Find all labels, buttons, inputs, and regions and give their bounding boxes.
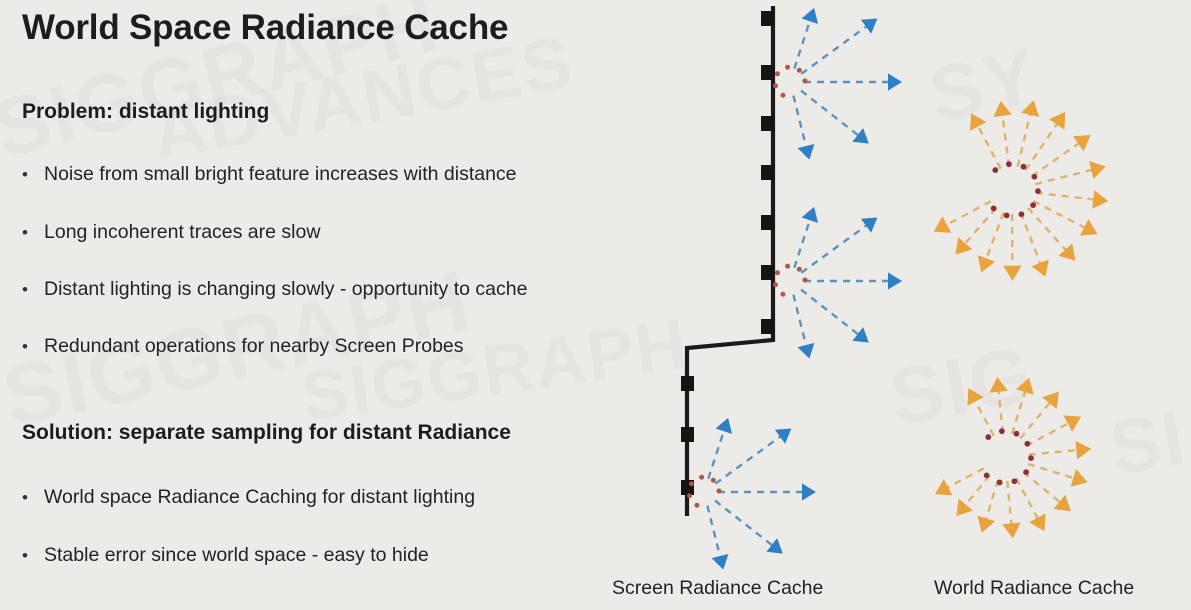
ray-arrowhead	[967, 388, 983, 406]
ray-shaft	[965, 476, 990, 506]
bullet-dot-icon: •	[22, 224, 44, 241]
world-radiance-rays-group	[934, 100, 1109, 538]
ray-shaft	[801, 26, 867, 74]
problem-bullet: • Long incoherent traces are slow	[22, 221, 320, 244]
ray-shaft	[1024, 472, 1061, 502]
radiance-sample-dot	[716, 488, 721, 493]
ray-shaft	[975, 400, 994, 435]
ray-shaft	[946, 201, 991, 225]
ray-shaft	[1036, 193, 1095, 200]
radiance-sample-dot	[785, 65, 790, 70]
ray-arrowhead	[956, 499, 973, 516]
screen-probe-marker	[761, 11, 774, 26]
ray-shaft	[1020, 402, 1050, 438]
screen-probe-marker	[761, 65, 774, 80]
watermark-text: SIG	[883, 328, 1041, 444]
radiance-sample-dot	[1012, 478, 1018, 484]
ray-arrowhead	[852, 327, 868, 342]
ray-shaft	[801, 91, 859, 136]
radiance-sample-dot	[775, 71, 780, 76]
ray-arrowhead	[970, 113, 986, 131]
radiance-sample-dot	[1006, 161, 1012, 167]
screen-probe-marker	[761, 116, 774, 131]
bullet-dot-icon: •	[22, 489, 44, 506]
ray-arrowhead	[802, 483, 816, 500]
ray-shaft	[1018, 114, 1031, 167]
caption-screen-radiance-cache: Screen Radiance Cache	[612, 577, 823, 600]
ray-arrowhead	[1002, 523, 1021, 539]
ray-arrowhead	[978, 255, 995, 272]
watermark-text: SI	[1103, 394, 1191, 493]
ray-shaft	[1002, 115, 1009, 167]
ray-shaft	[1026, 123, 1058, 170]
radiance-sample-dot	[775, 270, 780, 275]
ray-arrowhead	[1058, 243, 1075, 260]
page-title: World Space Radiance Cache	[22, 8, 508, 48]
ray-arrowhead	[798, 343, 815, 359]
bullet-dot-icon: •	[22, 547, 44, 564]
ray-shaft	[1035, 170, 1092, 184]
ray-shaft	[794, 219, 810, 268]
ray-arrowhead	[798, 144, 815, 160]
solution-bullet: • Stable error since world space - easy …	[22, 544, 429, 567]
ray-arrowhead	[888, 73, 902, 90]
solution-bullet-label: Stable error since world space - easy to…	[44, 544, 429, 567]
radiance-sample-dot	[1021, 164, 1027, 170]
radiance-sample-dot	[780, 93, 785, 98]
ray-arrowhead	[935, 479, 953, 495]
screen-probe-marker	[761, 265, 774, 280]
ray-arrowhead	[1071, 469, 1088, 487]
ray-arrowhead	[1073, 135, 1091, 151]
ray-shaft	[1021, 212, 1041, 264]
ray-shaft	[964, 208, 996, 244]
problem-heading: Problem: distant lighting	[22, 100, 269, 124]
ray-shaft	[1033, 201, 1085, 228]
ray-shaft	[1032, 143, 1080, 176]
ray-arrowhead	[977, 516, 995, 533]
ray-arrowhead	[1075, 441, 1091, 460]
ray-arrowhead	[1029, 513, 1045, 531]
ray-arrowhead	[888, 272, 902, 289]
radiance-sample-dot	[1031, 174, 1037, 180]
solution-bullet-label: World space Radiance Caching for distant…	[44, 486, 475, 509]
ray-arrowhead	[716, 418, 733, 434]
radiance-sample-dot	[802, 78, 807, 83]
radiance-sample-dot	[1004, 213, 1010, 219]
ray-shaft	[801, 225, 867, 273]
ray-arrowhead	[1021, 100, 1039, 117]
radiance-sample-dot	[711, 478, 716, 483]
ray-shaft	[1007, 481, 1011, 525]
ray-shaft	[986, 212, 1004, 259]
ray-arrowhead	[861, 218, 877, 233]
ray-shaft	[978, 125, 1001, 168]
radiance-sample-dot	[797, 68, 802, 73]
problem-bullet-label: Distant lighting is changing slowly - op…	[44, 278, 527, 301]
problem-bullet-label: Long incoherent traces are slow	[44, 221, 320, 244]
radiance-sample-dot	[1035, 188, 1041, 194]
bullet-dot-icon: •	[22, 338, 44, 355]
ray-arrowhead	[802, 8, 819, 24]
ray-arrowhead	[802, 207, 819, 223]
problem-bullet: • Distant lighting is changing slowly - …	[22, 278, 527, 301]
radiance-sample-dot	[1028, 455, 1034, 461]
radiance-sample-dot	[991, 205, 997, 211]
radiance-sample-dot	[999, 428, 1005, 434]
ray-arrowhead	[989, 377, 1008, 393]
screen-probe-marker	[761, 215, 774, 230]
problem-bullet: • Noise from small bright feature increa…	[22, 163, 517, 186]
ray-arrowhead	[1016, 378, 1034, 395]
ray-arrowhead	[1092, 190, 1108, 208]
screen-radiance-rays-group	[687, 8, 902, 570]
ray-shaft	[1029, 450, 1078, 455]
ray-shaft	[793, 295, 806, 347]
ray-arrowhead	[934, 216, 952, 232]
ray-shaft	[1028, 208, 1066, 251]
ray-arrowhead	[852, 128, 868, 143]
ray-shaft	[793, 96, 806, 148]
problem-bullet: • Redundant operations for nearby Screen…	[22, 335, 464, 358]
solution-bullet: • World space Radiance Caching for dista…	[22, 486, 475, 509]
radiance-sample-dot	[1024, 441, 1030, 447]
ray-arrowhead	[1031, 260, 1048, 277]
ray-shaft	[1016, 478, 1038, 519]
slide-root: SIGGRAPH ADVANCES SIGGRAPH SIGGRAPH SY S…	[0, 0, 1191, 610]
radiance-sample-dot	[780, 292, 785, 297]
ray-shaft	[715, 501, 773, 546]
ray-shaft	[999, 391, 1003, 434]
radiance-sample-dot	[997, 480, 1003, 486]
radiance-sample-dot	[985, 434, 991, 440]
ray-arrowhead	[766, 538, 782, 553]
ray-arrowhead	[1003, 266, 1022, 281]
ray-shaft	[715, 436, 781, 484]
ray-arrowhead	[955, 237, 972, 254]
ray-shaft	[708, 430, 724, 479]
ray-shaft	[794, 20, 810, 69]
ray-shaft	[801, 290, 859, 335]
caption-world-radiance-cache: World Radiance Cache	[934, 577, 1134, 600]
ray-arrowhead	[861, 19, 877, 34]
ray-shaft	[1012, 391, 1025, 434]
radiance-sample-dot	[785, 264, 790, 269]
radiance-sample-dot	[1014, 431, 1020, 437]
watermark-text: SY	[922, 30, 1047, 141]
solution-heading: Solution: separate sampling for distant …	[22, 421, 511, 445]
screen-probe-marker	[761, 165, 774, 180]
ray-arrowhead	[712, 554, 729, 570]
ray-arrowhead	[1080, 219, 1098, 236]
problem-bullet-label: Noise from small bright feature increase…	[44, 163, 517, 186]
radiance-sample-dot	[773, 282, 778, 287]
bullet-dot-icon: •	[22, 166, 44, 183]
ray-shaft	[947, 468, 984, 488]
ray-arrowhead	[993, 101, 1011, 117]
ray-arrowhead	[1063, 415, 1081, 431]
bullet-dot-icon: •	[22, 281, 44, 298]
ray-arrowhead	[1042, 392, 1059, 409]
radiance-sample-dot	[1030, 202, 1036, 208]
screen-probe-marker	[761, 319, 774, 334]
ray-arrowhead	[1089, 161, 1106, 179]
radiance-sample-dot	[1019, 211, 1025, 217]
ray-shaft	[986, 480, 998, 520]
radiance-sample-dot	[1023, 469, 1029, 475]
ray-shaft	[707, 506, 720, 558]
radiance-sample-dot	[992, 167, 998, 173]
text-column: World Space Radiance Cache Problem: dist…	[0, 0, 700, 610]
ray-arrowhead	[775, 429, 791, 444]
radiance-sample-dot	[797, 267, 802, 272]
radiance-sample-dot	[773, 83, 778, 88]
radiance-sample-dot	[984, 472, 990, 478]
ray-shaft	[1028, 464, 1075, 478]
radiance-sample-dot	[802, 277, 807, 282]
problem-bullet-label: Redundant operations for nearby Screen P…	[44, 335, 464, 358]
ray-arrowhead	[1049, 112, 1065, 130]
ray-arrowhead	[1054, 495, 1071, 512]
ray-shaft	[1026, 423, 1069, 446]
